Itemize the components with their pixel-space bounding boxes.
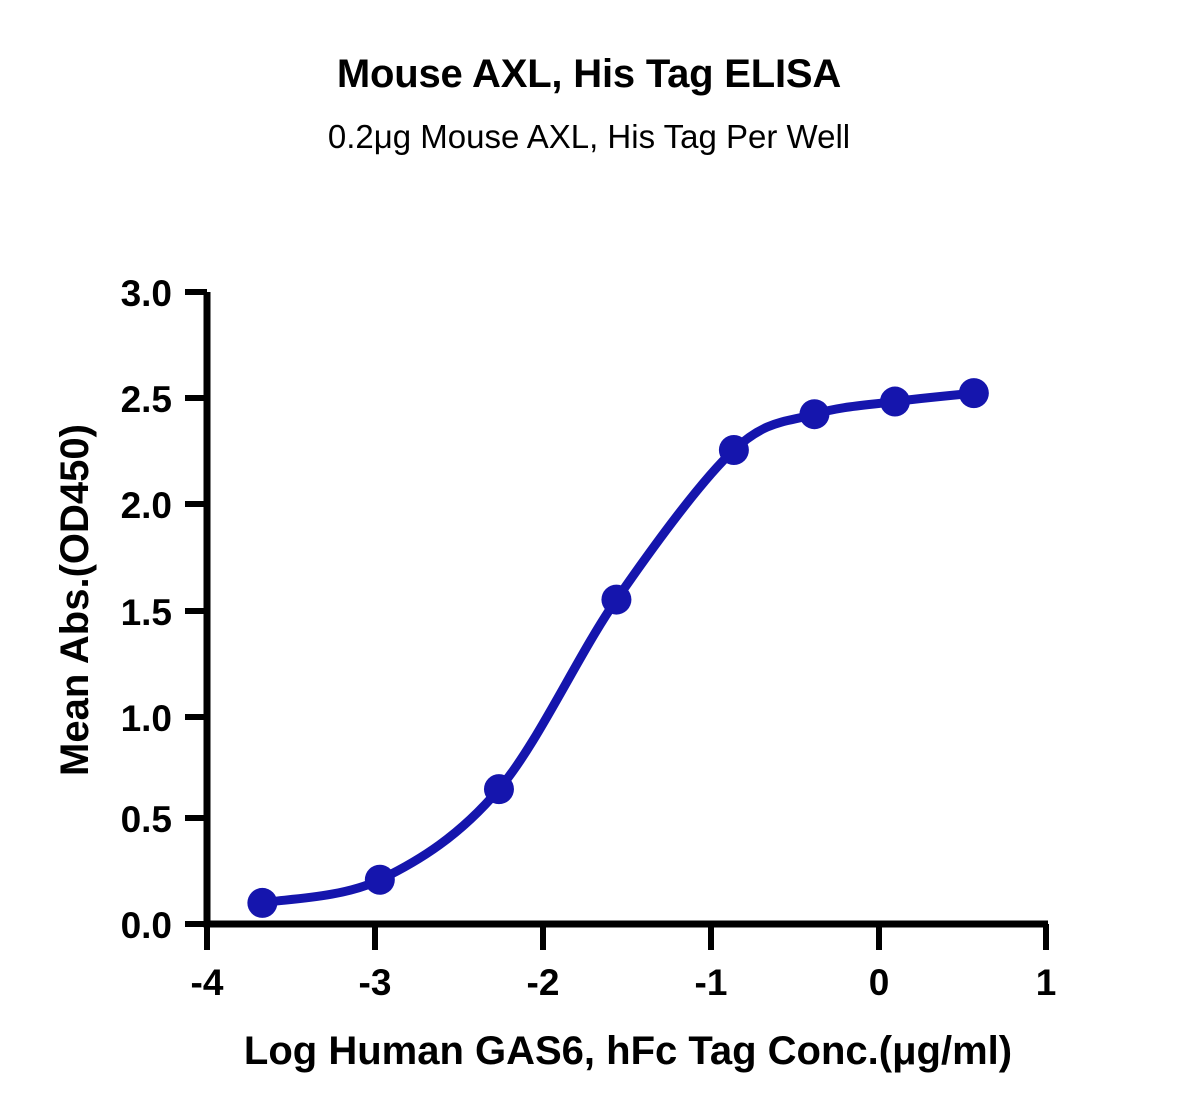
x-tick-label-0: 0: [869, 962, 890, 1003]
data-point: [880, 387, 910, 417]
y-tick-label-1.5: 1.5: [121, 592, 172, 633]
x-axis-ticks: [207, 924, 1046, 950]
data-point: [365, 865, 395, 895]
data-point: [601, 585, 631, 615]
x-tick-label--1: -1: [695, 962, 728, 1003]
series-line-0: [262, 393, 973, 903]
y-tick-label-2.5: 2.5: [121, 379, 172, 420]
x-tick-label--4: -4: [191, 962, 224, 1003]
x-tick-label--3: -3: [359, 962, 392, 1003]
elisa-chart-figure: Mouse AXL, His Tag ELISA 0.2μg Mouse AXL…: [0, 0, 1178, 1117]
y-tick-label-0.5: 0.5: [121, 799, 172, 840]
x-tick-label--2: -2: [527, 962, 560, 1003]
y-axis-title: Mean Abs.(OD450): [53, 424, 97, 776]
plot-area: 3.0 2.5 2.0 1.5 1.0 0.5 0.0 -4 -3 -2 -1 …: [0, 0, 1178, 1117]
data-series-layer: [247, 378, 988, 918]
data-point: [247, 888, 277, 918]
y-tick-label-3.0: 3.0: [121, 273, 172, 314]
data-point: [719, 435, 749, 465]
y-tick-label-2.0: 2.0: [121, 485, 172, 526]
y-tick-label-0.0: 0.0: [121, 905, 172, 946]
data-point: [799, 399, 829, 429]
data-point: [484, 774, 514, 804]
x-axis-title: Log Human GAS6, hFc Tag Conc.(μg/ml): [244, 1029, 1012, 1073]
data-point: [959, 378, 989, 408]
y-tick-label-1.0: 1.0: [121, 698, 172, 739]
x-tick-label-1: 1: [1036, 962, 1057, 1003]
